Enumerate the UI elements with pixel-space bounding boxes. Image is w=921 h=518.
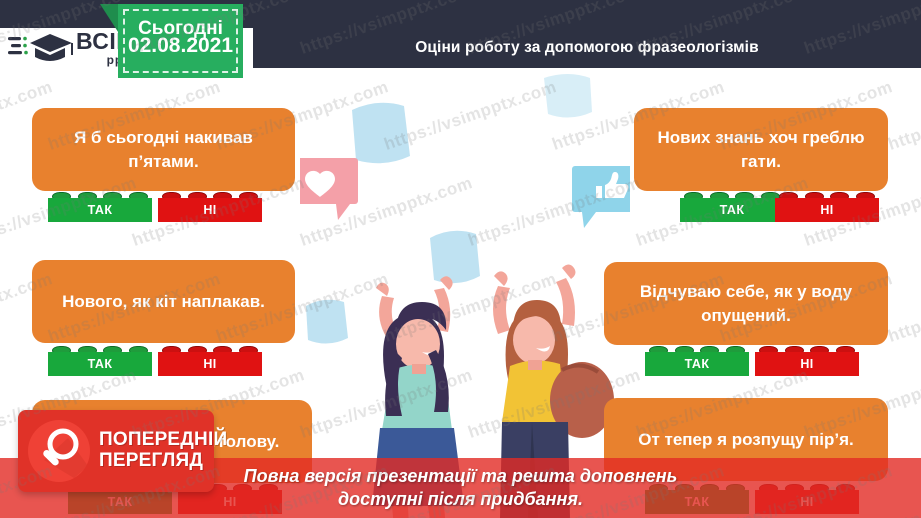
magnifier-icon	[28, 420, 90, 482]
slide-header-bar: Оціни роботу за допомогою фразеологізмів	[253, 28, 921, 68]
statement-text: От тепер я розпущу пір’я.	[638, 428, 854, 451]
statement-card: Відчуваю себе, як у воду опущений.	[604, 262, 888, 345]
answer-yes-button[interactable]: ТАК	[680, 192, 784, 222]
presentation-slide: Оціни роботу за допомогою фразеологізмів	[0, 0, 921, 518]
answer-no-button[interactable]: НІ	[158, 192, 262, 222]
answer-yes-label: ТАК	[88, 357, 113, 371]
answer-yes-button[interactable]: ТАК	[48, 346, 152, 376]
answer-no-button[interactable]: НІ	[775, 192, 879, 222]
illustration-two-women-celebrating	[300, 70, 630, 518]
answer-no-button[interactable]: НІ	[158, 346, 262, 376]
preview-badge: ПОПЕРЕДНІЙ ПЕРЕГЛЯД	[18, 410, 214, 492]
date-badge: Сьогодні 02.08.2021	[118, 4, 243, 78]
statement-text: Нового, як кіт наплакав.	[62, 290, 265, 313]
answer-yes-button[interactable]: ТАК	[645, 346, 749, 376]
preview-badge-line1: ПОПЕРЕДНІЙ	[99, 430, 227, 451]
banner-line-2: доступні після придбання.	[338, 488, 583, 511]
answer-yes-label: ТАК	[88, 203, 113, 217]
page-title: Оціни роботу за допомогою фразеологізмів	[415, 39, 758, 57]
answer-no-label: НІ	[800, 357, 813, 371]
preview-badge-line2: ПЕРЕГЛЯД	[99, 451, 227, 472]
answer-no-label: НІ	[203, 357, 216, 371]
answer-no-button[interactable]: НІ	[755, 346, 859, 376]
answer-yes-label: ТАК	[685, 357, 710, 371]
statement-card: Нових знань хоч греблю гати.	[634, 108, 888, 191]
answer-yes-label: ТАК	[720, 203, 745, 217]
answer-no-label: НІ	[820, 203, 833, 217]
statement-text: Відчуваю себе, як у воду опущений.	[620, 280, 872, 327]
statement-card: Нового, як кіт наплакав.	[32, 260, 295, 343]
statement-card: Я б сьогодні накивав п’ятами.	[32, 108, 295, 191]
graduation-cap-icon	[8, 29, 74, 67]
answer-yes-button[interactable]: ТАК	[48, 192, 152, 222]
answer-no-label: НІ	[203, 203, 216, 217]
statement-text: Нових знань хоч греблю гати.	[650, 126, 872, 173]
date-badge-value: 02.08.2021	[122, 31, 240, 61]
banner-line-1: Повна версія презентації та решта доповн…	[244, 465, 678, 488]
statement-text: Я б сьогодні накивав п’ятами.	[48, 126, 279, 173]
